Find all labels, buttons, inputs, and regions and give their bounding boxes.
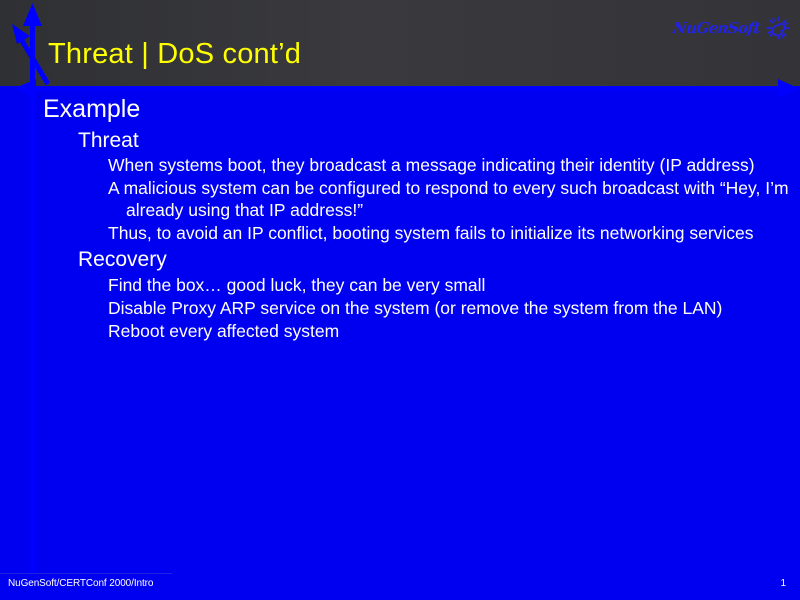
footer-source-label: NuGenSoft/CERTConf 2000/Intro <box>8 578 153 589</box>
brand-logo: NuGenSoft <box>673 14 792 42</box>
page-number: 1 <box>780 578 786 589</box>
outline-level3-recovery-2: Disable Proxy ARP service on the system … <box>0 297 800 319</box>
bullet-text: A malicious system can be configured to … <box>108 177 800 221</box>
bullet-text: When systems boot, they broadcast a mess… <box>108 154 800 176</box>
bullet-text: Disable Proxy ARP service on the system … <box>108 297 800 319</box>
outline-level3-threat-3: Thus, to avoid an IP conflict, booting s… <box>0 222 800 244</box>
slide-body: Example Threat When systems boot, they b… <box>0 90 800 342</box>
footer-divider <box>0 573 172 574</box>
bullet-text: Thus, to avoid an IP conflict, booting s… <box>108 222 800 244</box>
outline-level3-threat-1: When systems boot, they broadcast a mess… <box>0 154 800 176</box>
outline-level3-recovery-1: Find the box… good luck, they can be ver… <box>0 274 800 296</box>
bullet-text: Reboot every affected system <box>108 320 800 342</box>
outline-level2-recovery: Recovery <box>0 247 800 273</box>
outline-level3-recovery-3: Reboot every affected system <box>0 320 800 342</box>
outline-level1-example: Example <box>0 94 800 125</box>
page-title: Threat | DoS cont’d <box>48 38 301 71</box>
outline-level3-threat-2: A malicious system can be configured to … <box>0 177 800 221</box>
slide: Threat | DoS cont’d NuGenSoft <box>0 0 800 600</box>
outline-level2-threat: Threat <box>0 128 800 154</box>
bullet-text: Find the box… good luck, they can be ver… <box>108 274 800 296</box>
brand-logo-text: NuGenSoft <box>672 19 761 37</box>
sun-spiral-icon <box>764 14 792 42</box>
